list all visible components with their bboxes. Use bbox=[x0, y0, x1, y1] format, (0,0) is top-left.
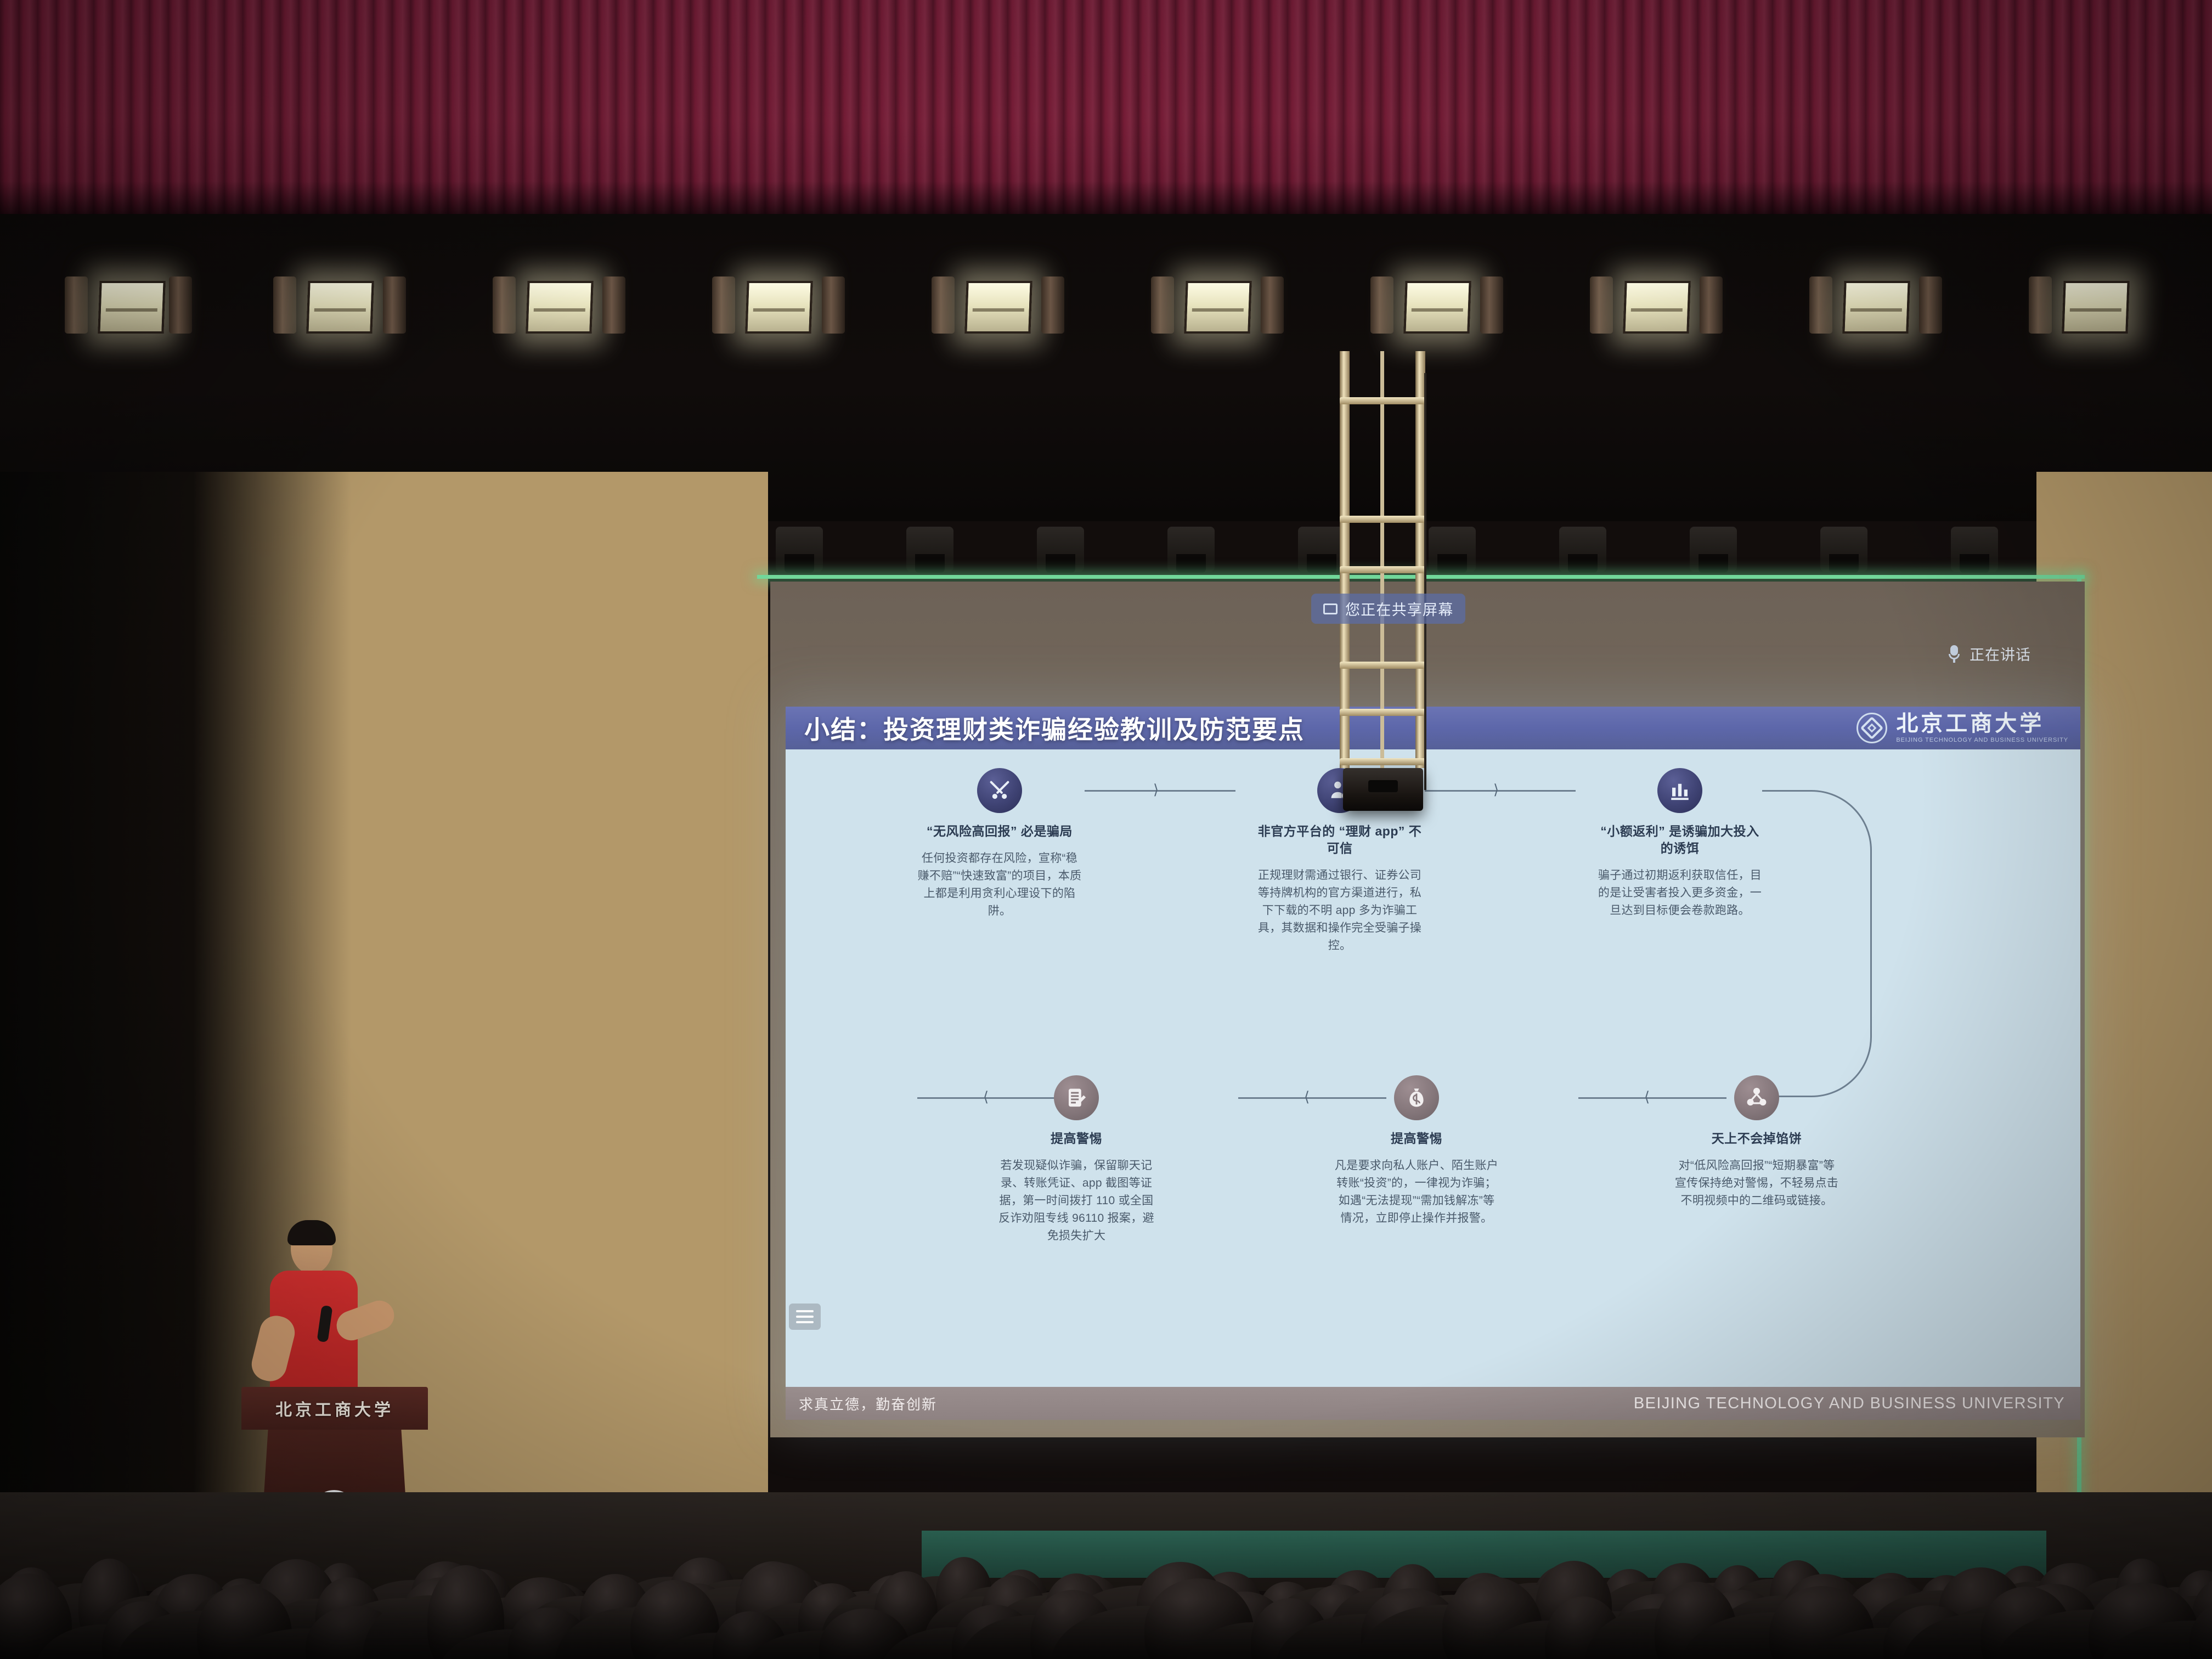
flow-node-heading: 提高警惕 bbox=[994, 1130, 1159, 1147]
stage-floodlight bbox=[745, 281, 812, 334]
ceiling-projector bbox=[1343, 768, 1423, 811]
moving-head-light bbox=[1690, 527, 1737, 572]
stage-floodlight bbox=[964, 281, 1032, 334]
brand-name-cn: 北京工商大学 bbox=[1896, 713, 2068, 735]
arrow-icon: ⟩ bbox=[1304, 1090, 1310, 1104]
fraud-lessons-flow-diagram: ⟩ ⟩ ⟩ ⟩ ⟩ “无风险高回报” 必是骗局 任何投资都存在风险，宣称“稳赚不… bbox=[917, 768, 1949, 1350]
lamp-housing bbox=[1151, 276, 1174, 334]
lamp-housing bbox=[1590, 276, 1613, 334]
connector-2-3 bbox=[1425, 790, 1576, 792]
flow-node-body: 若发现疑似诈骗，保留聊天记录、转账凭证、app 截图等证据，第一时间拨打 110… bbox=[994, 1157, 1159, 1245]
stage-floodlight bbox=[2062, 281, 2129, 334]
slide-footer-motto: 求真立德，勤奋创新 bbox=[799, 1393, 937, 1414]
arrow-icon: ⟩ bbox=[983, 1090, 989, 1104]
speaker-hair bbox=[287, 1220, 336, 1245]
moving-head-light bbox=[1037, 527, 1084, 572]
lamp-housing bbox=[383, 276, 406, 334]
speaking-indicator-text: 正在讲话 bbox=[1970, 643, 2031, 664]
flow-node-body: 正规理财需通过银行、证券公司等持牌机构的官方渠道进行，私下下载的不明 app 多… bbox=[1257, 867, 1422, 955]
moving-head-light bbox=[1820, 527, 1867, 572]
stage-floodlight bbox=[1403, 281, 1471, 334]
stage-floodlight bbox=[1842, 281, 1910, 334]
moving-head-light bbox=[1559, 527, 1606, 572]
lamp-housing bbox=[1261, 276, 1284, 334]
lamp-housing bbox=[493, 276, 516, 334]
slide-brand-lockup: 北京工商大学 BEIJING TECHNOLOGY AND BUSINESS U… bbox=[1857, 713, 2068, 743]
connector-1-2 bbox=[1085, 790, 1235, 792]
speaking-indicator: 正在讲话 bbox=[1949, 643, 2031, 664]
projection-screen: 小结：投资理财类诈骗经验教训及防范要点 北京工商大学 BEIJING TECHN… bbox=[786, 707, 2080, 1420]
projector-rig bbox=[1328, 351, 1437, 806]
lamp-housing bbox=[169, 276, 192, 334]
flow-node-body: 对“低风险高回报”“短期暴富”等宣传保持绝对警惕，不轻易点击不明视频中的二维码或… bbox=[1674, 1157, 1839, 1210]
university-seal-icon bbox=[1857, 713, 1887, 743]
stage-floodlight-row bbox=[0, 274, 2212, 346]
flow-node-body: 骗子通过初期返利获取信任，目的是让受害者投入更多资金，一旦达到目标便会卷款跑路。 bbox=[1598, 867, 1762, 919]
moving-head-light bbox=[1167, 527, 1215, 572]
flow-node-heading: “无风险高回报” 必是骗局 bbox=[917, 823, 1082, 840]
moving-head-light bbox=[1951, 527, 1998, 572]
stage-floodlight bbox=[1623, 281, 1690, 334]
flow-node-heading: “小额返利” 是诱骗加大投入的诱饵 bbox=[1598, 823, 1762, 857]
lamp-housing bbox=[1809, 276, 1832, 334]
lamp-housing bbox=[65, 276, 88, 334]
flow-node-heading: 提高警惕 bbox=[1334, 1130, 1499, 1147]
flow-node-5: 提高警惕 凡是要求向私人账户、陌生账户转账“投资”的，一律视为诈骗；如遇“无法提… bbox=[1334, 1075, 1499, 1227]
lamp-housing bbox=[1919, 276, 1942, 334]
slide-title-text: 小结：投资理财类诈骗经验教训及防范要点 bbox=[804, 710, 1305, 746]
flow-node-1: “无风险高回报” 必是骗局 任何投资都存在风险，宣称“稳赚不赔”“快速致富”的项… bbox=[917, 768, 1082, 920]
microphone-icon bbox=[1949, 645, 1960, 663]
flow-node-body: 任何投资都存在风险，宣称“稳赚不赔”“快速致富”的项目，本质上都是利用贪利心理设… bbox=[917, 850, 1082, 920]
screen-share-banner: 您正在共享屏幕 bbox=[1311, 594, 1465, 624]
arrow-icon: ⟩ bbox=[1153, 782, 1159, 797]
stage-floodlight bbox=[1184, 281, 1251, 334]
flow-node-body: 凡是要求向私人账户、陌生账户转账“投资”的，一律视为诈骗；如遇“无法提现”“需加… bbox=[1334, 1157, 1499, 1227]
document-edit-icon bbox=[1054, 1075, 1099, 1120]
monitor-share-icon bbox=[1323, 603, 1338, 614]
flow-node-heading: 天上不会掉馅饼 bbox=[1674, 1130, 1839, 1147]
connector-3-6-curve bbox=[1762, 790, 1872, 1097]
lamp-housing bbox=[1480, 276, 1503, 334]
auditorium-photo: 小结：投资理财类诈骗经验教训及防范要点 北京工商大学 BEIJING TECHN… bbox=[0, 0, 2212, 1659]
screen-share-banner-text: 您正在共享屏幕 bbox=[1345, 598, 1453, 619]
flow-node-3: “小额返利” 是诱骗加大投入的诱饵 骗子通过初期返利获取信任，目的是让受害者投入… bbox=[1598, 768, 1762, 919]
audience-foreground-shadow bbox=[0, 1599, 2212, 1659]
stage-floodlight bbox=[306, 281, 374, 334]
stage-floodlight bbox=[98, 281, 165, 334]
lamp-housing bbox=[273, 276, 296, 334]
bar-chart-icon bbox=[1657, 768, 1702, 813]
money-bag-icon bbox=[1394, 1075, 1439, 1120]
stage-floodlight bbox=[526, 281, 593, 334]
tools-cross-icon bbox=[977, 768, 1022, 813]
slide-footer-bar: 求真立德，勤奋创新 BEIJING TECHNOLOGY AND BUSINES… bbox=[786, 1387, 2080, 1420]
arrow-icon: ⟩ bbox=[1493, 782, 1499, 797]
lamp-housing bbox=[602, 276, 625, 334]
flow-node-6: 天上不会掉馅饼 对“低风险高回报”“短期暴富”等宣传保持绝对警惕，不轻易点击不明… bbox=[1674, 1075, 1839, 1210]
podium-nameplate-text: 北京工商大学 bbox=[275, 1396, 394, 1420]
moving-head-light bbox=[906, 527, 953, 572]
lamp-housing bbox=[1700, 276, 1723, 334]
lamp-housing bbox=[712, 276, 735, 334]
flow-node-heading: 非官方平台的 “理财 app” 不可信 bbox=[1257, 823, 1422, 857]
flow-node-4: 提高警惕 若发现疑似诈骗，保留聊天记录、转账凭证、app 截图等证据，第一时间拨… bbox=[994, 1075, 1159, 1245]
hamburger-menu-icon[interactable] bbox=[789, 1304, 821, 1330]
podium-nameplate: 北京工商大学 bbox=[241, 1387, 428, 1430]
slide-footer-english: BEIJING TECHNOLOGY AND BUSINESS UNIVERSI… bbox=[1634, 1395, 2065, 1413]
lamp-housing bbox=[2029, 276, 2052, 334]
brand-name-en: BEIJING TECHNOLOGY AND BUSINESS UNIVERSI… bbox=[1896, 737, 2068, 743]
arrow-icon: ⟩ bbox=[1644, 1090, 1650, 1104]
lamp-housing bbox=[822, 276, 845, 334]
moving-head-light bbox=[776, 527, 823, 572]
people-network-icon bbox=[1734, 1075, 1779, 1120]
lamp-housing bbox=[1370, 276, 1393, 334]
lamp-housing bbox=[1041, 276, 1064, 334]
lamp-housing bbox=[932, 276, 955, 334]
slide-body: ⟩ ⟩ ⟩ ⟩ ⟩ “无风险高回报” 必是骗局 任何投资都存在风险，宣称“稳赚不… bbox=[786, 749, 2080, 1387]
